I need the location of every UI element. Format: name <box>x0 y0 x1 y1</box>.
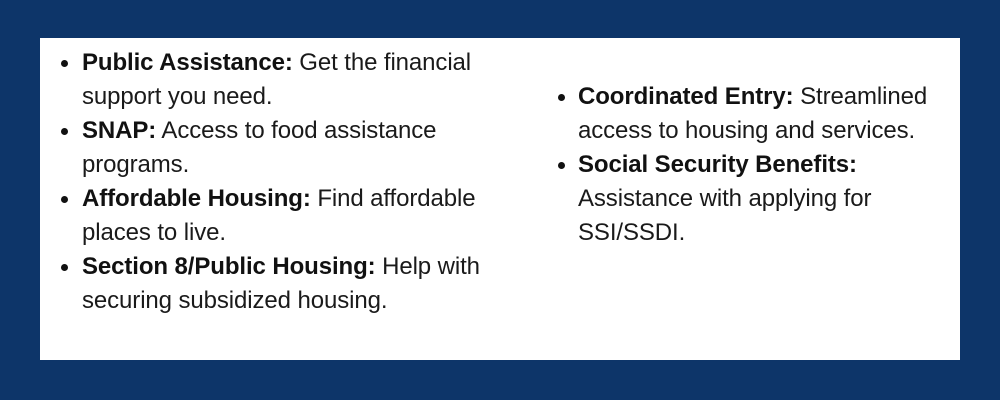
list-item-term: Public Assistance: <box>82 49 293 76</box>
left-column: Public Assistance: Get the financial sup… <box>40 38 540 318</box>
slide-background: Public Assistance: Get the financial sup… <box>0 0 1000 400</box>
list-item-term: SNAP: <box>82 117 156 144</box>
list-item: Coordinated Entry: Streamlined access to… <box>540 80 960 148</box>
list-item-term: Section 8/Public Housing: <box>82 253 376 280</box>
bullet-dot-icon <box>558 94 565 101</box>
bullet-dot-icon <box>61 60 68 67</box>
services-list-right: Coordinated Entry: Streamlined access to… <box>540 80 960 250</box>
content-panel: Public Assistance: Get the financial sup… <box>40 38 960 360</box>
list-item: Section 8/Public Housing: Help with secu… <box>40 250 540 318</box>
bullet-dot-icon <box>61 196 68 203</box>
list-item-term: Social Security Benefits: <box>578 151 857 178</box>
list-item-term: Coordinated Entry: <box>578 83 794 110</box>
list-item-term: Affordable Housing: <box>82 185 311 212</box>
list-item: Affordable Housing: Find affordable plac… <box>40 182 540 250</box>
two-column-layout: Public Assistance: Get the financial sup… <box>40 38 960 360</box>
bullet-dot-icon <box>61 264 68 271</box>
services-list-left: Public Assistance: Get the financial sup… <box>40 46 540 318</box>
bullet-dot-icon <box>558 162 565 169</box>
list-item: SNAP: Access to food assistance programs… <box>40 114 540 182</box>
list-item: Public Assistance: Get the financial sup… <box>40 46 540 114</box>
list-item: Social Security Benefits: Assistance wit… <box>540 148 960 250</box>
bullet-dot-icon <box>61 128 68 135</box>
list-item-description: Assistance with applying for SSI/SSDI. <box>578 185 871 246</box>
right-column: Coordinated Entry: Streamlined access to… <box>540 38 960 250</box>
